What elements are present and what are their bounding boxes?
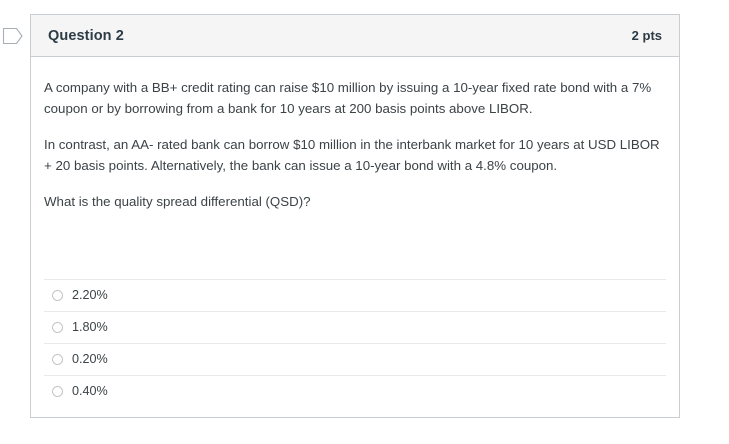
- answer-options-list: 2.20% 1.80% 0.20% 0.40%: [44, 279, 666, 407]
- answer-option[interactable]: 0.20%: [44, 343, 666, 375]
- answer-option-label: 2.20%: [72, 289, 108, 302]
- question-prompt: What is the quality spread differential …: [44, 191, 662, 212]
- question-paragraph-1: A company with a BB+ credit rating can r…: [44, 77, 662, 119]
- quiz-question-page: Question 2 2 pts A company with a BB+ cr…: [0, 0, 729, 444]
- radio-button-icon[interactable]: [52, 322, 63, 333]
- question-text: A company with a BB+ credit rating can r…: [44, 77, 662, 212]
- radio-button-icon[interactable]: [52, 354, 63, 365]
- answer-option-label: 1.80%: [72, 321, 108, 334]
- radio-button-icon[interactable]: [52, 386, 63, 397]
- answer-option[interactable]: 1.80%: [44, 311, 666, 343]
- bookmark-flag-icon[interactable]: [2, 26, 24, 46]
- question-header: Question 2 2 pts: [31, 15, 679, 57]
- answer-option[interactable]: 0.40%: [44, 375, 666, 407]
- question-paragraph-2: In contrast, an AA- rated bank can borro…: [44, 134, 662, 176]
- radio-button-icon[interactable]: [52, 290, 63, 301]
- question-body: A company with a BB+ credit rating can r…: [31, 57, 679, 212]
- answer-option[interactable]: 2.20%: [44, 279, 666, 311]
- answer-option-label: 0.20%: [72, 353, 108, 366]
- page-title: Question 2: [48, 28, 124, 44]
- question-card: Question 2 2 pts A company with a BB+ cr…: [30, 14, 680, 418]
- answer-option-label: 0.40%: [72, 385, 108, 398]
- question-points-badge: 2 pts: [632, 28, 662, 43]
